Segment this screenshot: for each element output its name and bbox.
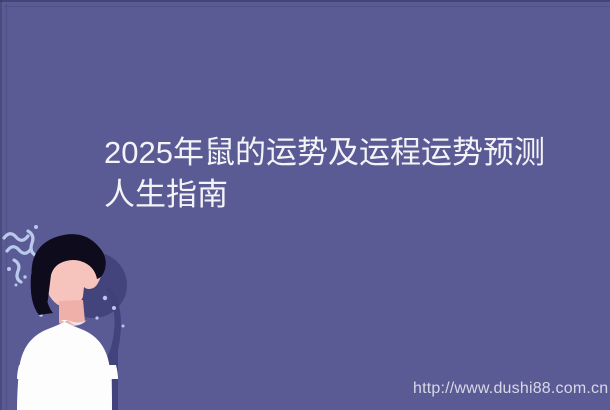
person-looking-up-illustration: [0, 215, 175, 410]
watermark-url: http://www.dushi88.com.cn: [413, 379, 608, 399]
frame-edge-top: [0, 0, 610, 2]
poster-canvas: 2025年鼠的运势及运程运势预测人生指南 http://www.dushi88.…: [0, 0, 610, 410]
t-shirt: [17, 320, 118, 410]
squiggle-lines: [4, 231, 35, 282]
page-title: 2025年鼠的运势及运程运势预测人生指南: [104, 132, 564, 216]
frame-inner-line-top: [4, 6, 610, 7]
